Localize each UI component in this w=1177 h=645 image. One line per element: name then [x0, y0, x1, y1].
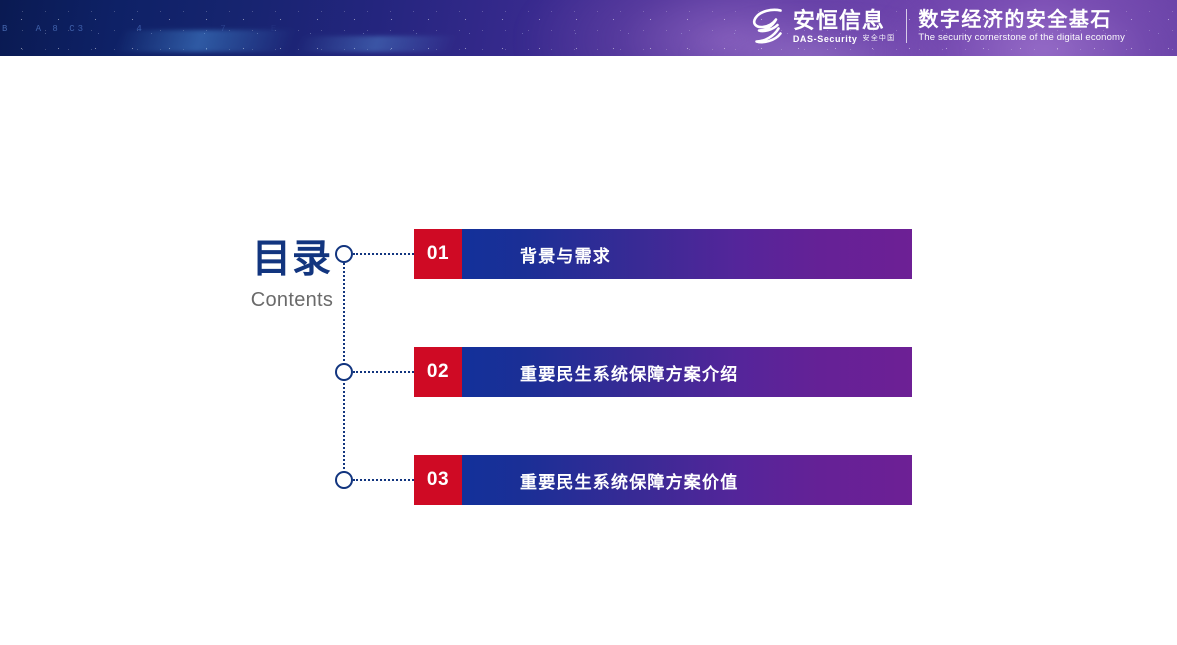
data-streak-two — [295, 36, 474, 52]
contents-title-block: 目录 Contents — [240, 238, 344, 313]
header-banner: B A 8 C3 4 7 E F 9C0 2 3 B 0 E 07 3 3 67… — [0, 0, 1177, 56]
item-label-01: 背景与需求 — [462, 242, 611, 267]
timeline-connector-01 — [353, 253, 414, 255]
contents-item-03[interactable]: 03 重要民生系统保障方案价值 — [414, 455, 912, 505]
item-body-03[interactable]: 重要民生系统保障方案价值 — [462, 455, 912, 505]
company-slogan-cn: 安全中国 — [863, 34, 896, 44]
hex-code-texture: B A 8 C3 4 7 E F 9C0 2 3 B 0 E 07 3 3 67… — [0, 0, 300, 56]
company-name-cn: 安恒信息 — [793, 9, 896, 33]
brand-name-group: 安恒信息 DAS-Security 安全中国 — [793, 9, 896, 44]
contents-title-en: Contents — [240, 287, 344, 313]
contents-title-cn: 目录 — [240, 238, 344, 282]
code-line: B A 8 C3 4 7 E — [2, 24, 300, 35]
item-body-02[interactable]: 重要民生系统保障方案介绍 — [462, 347, 912, 397]
company-name-en: DAS-Security — [793, 34, 858, 44]
item-label-02: 重要民生系统保障方案介绍 — [462, 360, 738, 385]
tagline-group: 数字经济的安全基石 The security cornerstone of th… — [918, 9, 1125, 44]
contents-item-02[interactable]: 02 重要民生系统保障方案介绍 — [414, 347, 912, 397]
timeline-connector-02 — [353, 371, 414, 373]
das-security-swoosh-icon — [750, 7, 786, 45]
brand-logo-block: 安恒信息 DAS-Security 安全中国 数字经济的安全基石 The sec… — [750, 4, 1125, 48]
item-number-03: 03 — [414, 455, 462, 505]
timeline-connector-03 — [353, 479, 414, 481]
timeline-node-01 — [335, 245, 353, 263]
tagline-en: The security cornerstone of the digital … — [918, 32, 1125, 44]
timeline-node-02 — [335, 363, 353, 381]
item-body-01[interactable]: 背景与需求 — [462, 229, 912, 279]
item-label-03: 重要民生系统保障方案价值 — [462, 468, 738, 493]
company-subtitle-row: DAS-Security 安全中国 — [793, 34, 896, 44]
contents-item-01[interactable]: 01 背景与需求 — [414, 229, 912, 279]
tagline-cn: 数字经济的安全基石 — [918, 9, 1125, 32]
item-number-01: 01 — [414, 229, 462, 279]
logo-divider — [906, 9, 907, 43]
timeline-node-03 — [335, 471, 353, 489]
item-number-02: 02 — [414, 347, 462, 397]
